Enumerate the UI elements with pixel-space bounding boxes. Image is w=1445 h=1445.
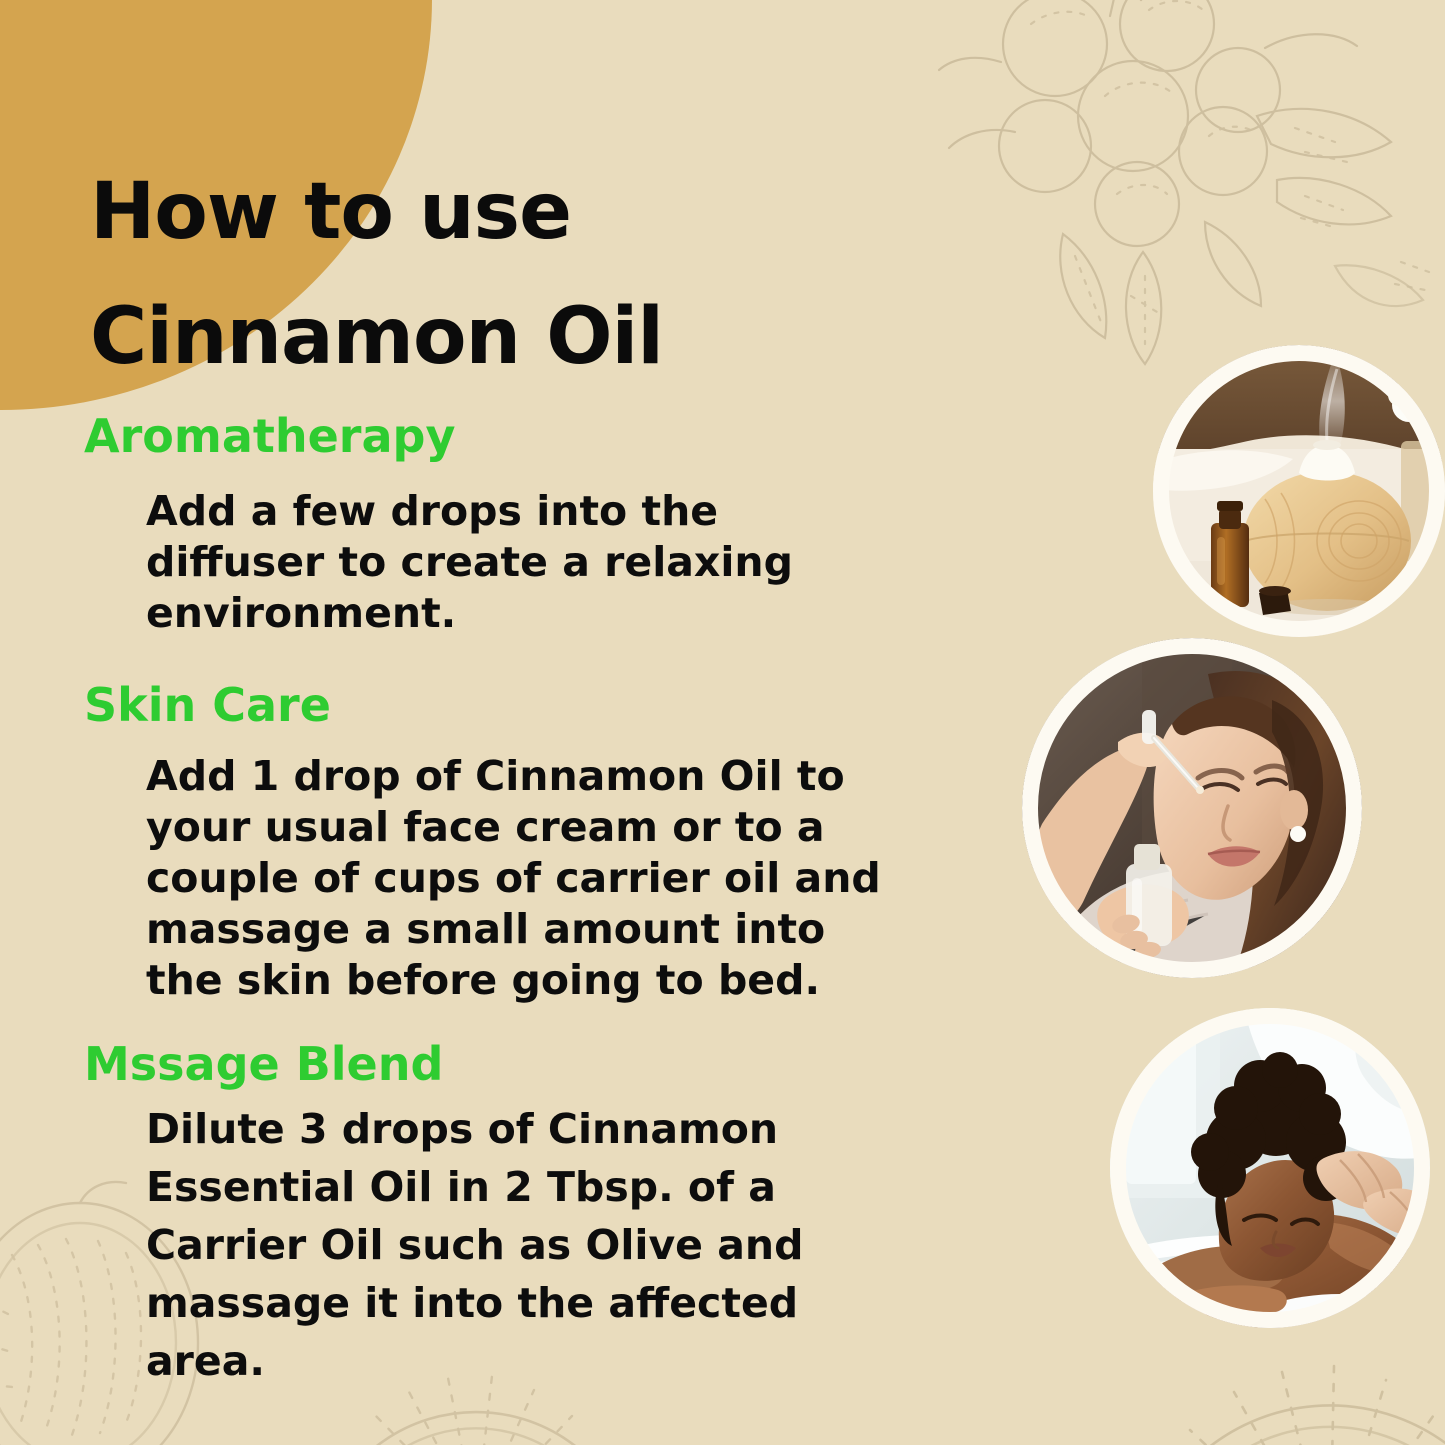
usage-sections: Aromatherapy Add a few drops into the di… bbox=[0, 408, 990, 1390]
massage-scene-illustration bbox=[1110, 1008, 1430, 1328]
infographic-poster: How to use Cinnamon Oil Aromatherapy Add… bbox=[0, 0, 1445, 1445]
aromatherapy-diffuser-photo bbox=[1153, 345, 1445, 637]
diffuser-scene-illustration bbox=[1153, 345, 1445, 637]
page-title-line-1: How to use bbox=[90, 150, 920, 275]
berry-branch-sketch-icon bbox=[905, 0, 1445, 396]
section-heading-skin-care: Skin Care bbox=[84, 677, 990, 733]
section-body-massage-blend: Dilute 3 drops of Cinnamon Essential Oil… bbox=[146, 1100, 906, 1390]
woman-applying-serum-photo bbox=[1022, 638, 1362, 978]
page-title: How to use Cinnamon Oil bbox=[90, 150, 920, 400]
serum-application-illustration bbox=[1022, 638, 1362, 978]
section-skin-care: Skin Care Add 1 drop of Cinnamon Oil to … bbox=[0, 677, 990, 1006]
back-massage-photo bbox=[1110, 1008, 1430, 1328]
section-body-skin-care: Add 1 drop of Cinnamon Oil to your usual… bbox=[146, 751, 906, 1006]
section-aromatherapy: Aromatherapy Add a few drops into the di… bbox=[0, 408, 990, 639]
section-massage-blend: Mssage Blend Dilute 3 drops of Cinnamon … bbox=[0, 1036, 990, 1390]
section-heading-aromatherapy: Aromatherapy bbox=[84, 408, 990, 464]
section-heading-massage-blend: Mssage Blend bbox=[84, 1036, 990, 1092]
section-body-aromatherapy: Add a few drops into the diffuser to cre… bbox=[146, 486, 906, 639]
page-title-line-2: Cinnamon Oil bbox=[90, 275, 920, 400]
